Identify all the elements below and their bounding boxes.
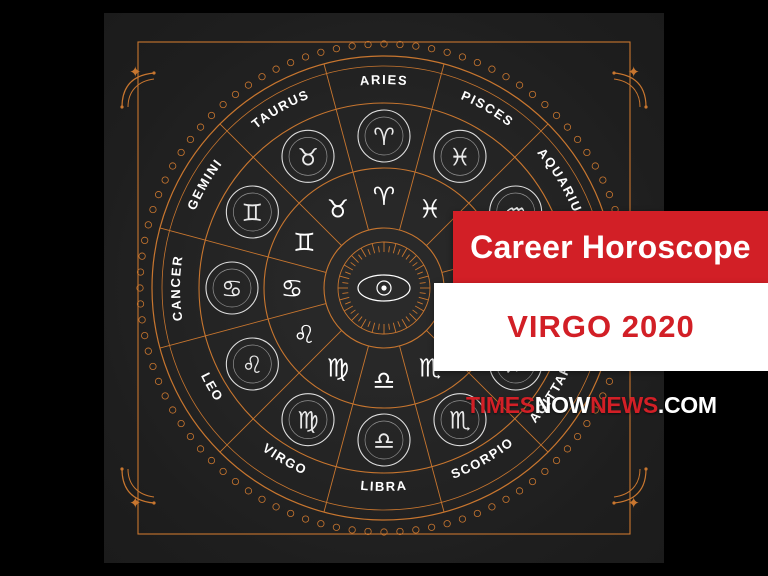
watermark-news: NEWS <box>590 392 658 419</box>
sign-name-leo: LEO <box>198 370 227 404</box>
sign-illustration-virgo: ♍ <box>282 394 334 446</box>
sign-name-virgo: VIRGO <box>260 440 310 477</box>
sign-illustration-leo: ♌ <box>226 338 278 390</box>
sign-symbol-cancer: ♋ <box>281 274 303 303</box>
svg-text:♊: ♊ <box>242 199 264 227</box>
svg-text:♌: ♌ <box>242 351 264 379</box>
title-banner: Career Horoscope <box>453 211 768 283</box>
sign-illustration-aries: ♈ <box>358 110 410 162</box>
sign-symbol-gemini: ♊ <box>293 228 315 257</box>
subtitle-text: VIRGO 2020 <box>507 309 694 345</box>
sign-name-cancer: CANCER <box>168 254 186 322</box>
sun-eye-icon <box>338 242 430 334</box>
sign-illustration-gemini: ♊ <box>226 186 278 238</box>
watermark-domain: .COM <box>658 392 717 419</box>
subtitle-banner: VIRGO 2020 <box>434 283 768 371</box>
sign-illustration-taurus: ♉ <box>282 130 334 182</box>
svg-text:♍: ♍ <box>297 407 319 435</box>
watermark-now: NOW <box>535 392 590 419</box>
sign-symbol-pisces: ♓ <box>419 194 441 223</box>
sign-symbol-aries: ♈ <box>373 182 395 211</box>
watermark-logo: TIMES NOW NEWS .COM <box>466 392 717 419</box>
svg-text:♉: ♉ <box>297 143 319 171</box>
watermark-times: TIMES <box>466 392 535 419</box>
title-text: Career Horoscope <box>470 229 751 266</box>
svg-text:♈: ♈ <box>373 123 395 151</box>
sign-symbol-taurus: ♉ <box>327 194 349 223</box>
sign-illustration-cancer: ♋ <box>206 262 258 314</box>
sign-name-libra: LIBRA <box>360 478 408 494</box>
sign-symbol-virgo: ♍ <box>327 354 349 383</box>
sign-symbol-libra: ♎ <box>373 366 395 395</box>
svg-text:♋: ♋ <box>221 275 243 303</box>
svg-text:♓: ♓ <box>449 143 471 171</box>
sign-illustration-libra: ♎ <box>358 414 410 466</box>
svg-text:♎: ♎ <box>373 427 395 455</box>
sign-symbol-leo: ♌ <box>293 320 315 349</box>
sign-name-scorpio: SCORPIO <box>449 434 517 482</box>
poster-image: ✦ ✦ ✦ ✦ <box>0 0 768 576</box>
sign-name-aries: ARIES <box>359 72 409 88</box>
sign-illustration-pisces: ♓ <box>434 130 486 182</box>
